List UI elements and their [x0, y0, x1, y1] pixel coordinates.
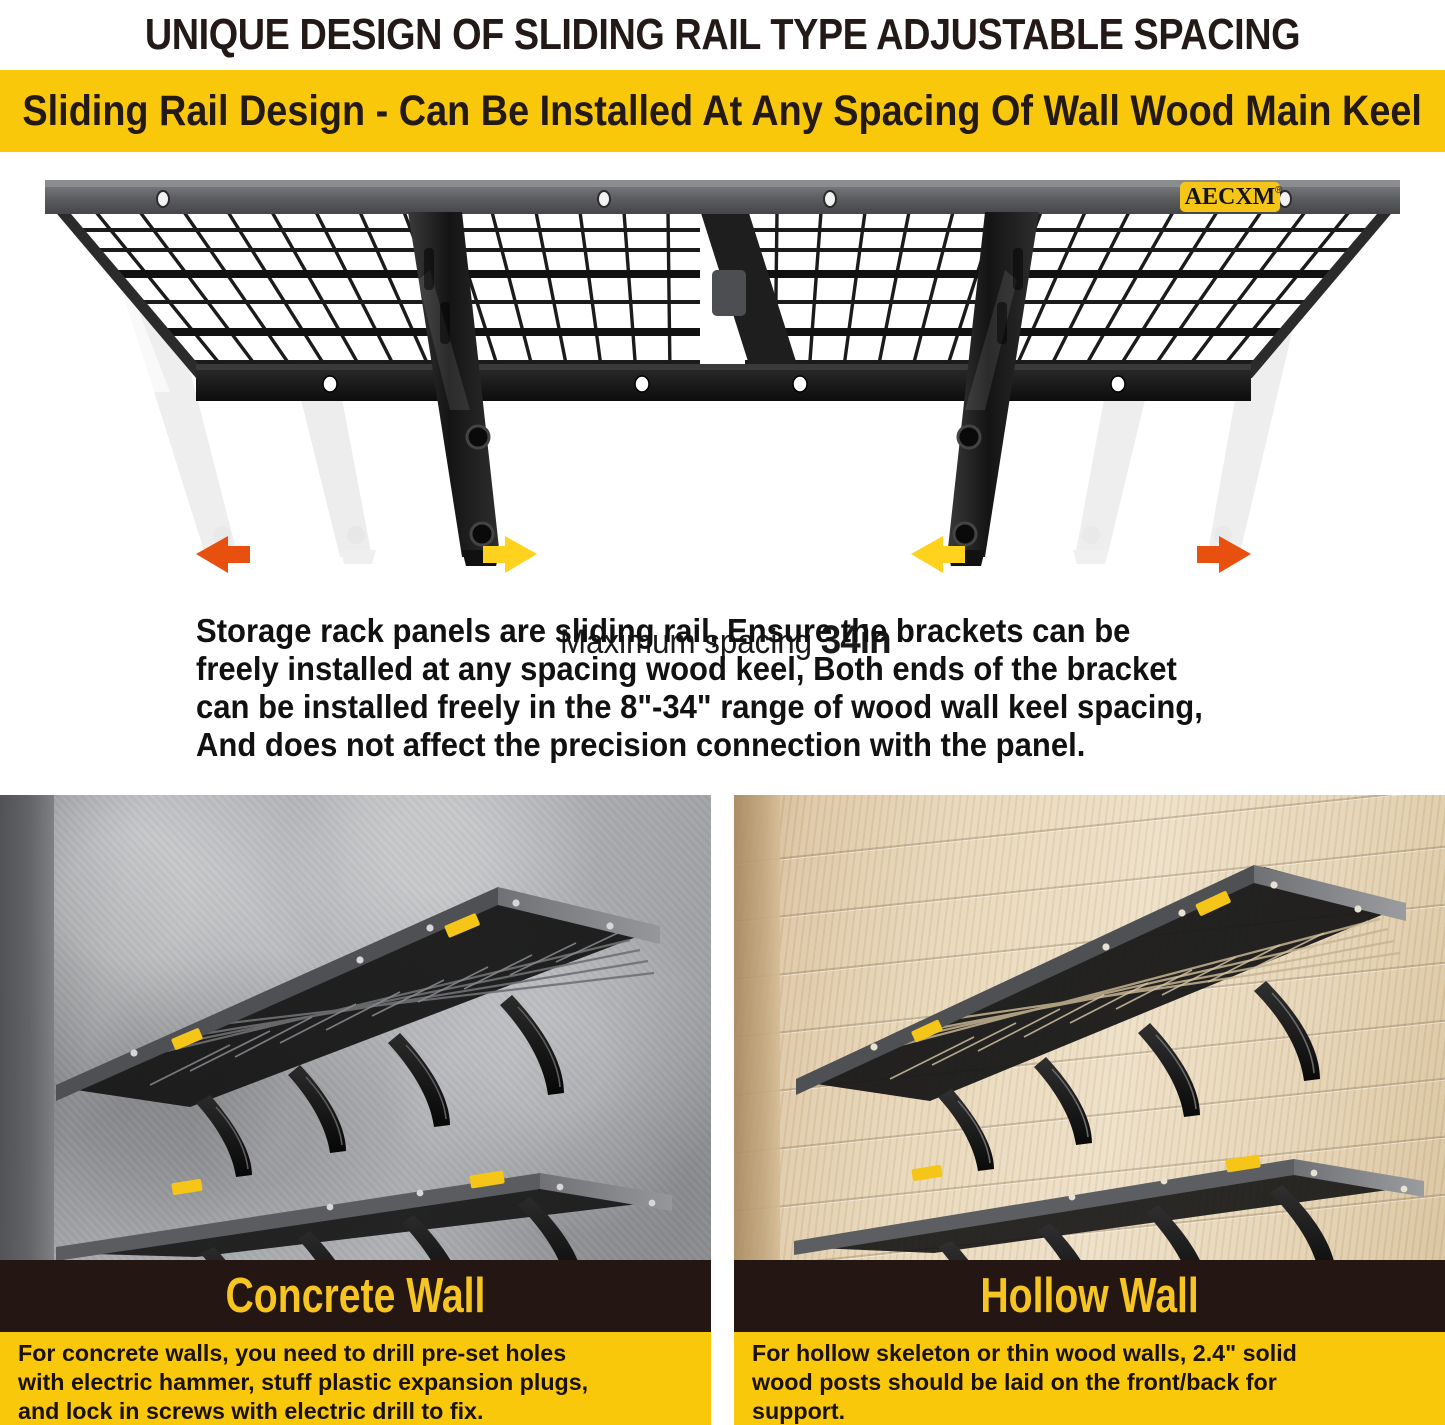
rack-lower	[56, 1170, 672, 1260]
panel-hollow-wall: Hollow Wall For hollow skeleton or thin …	[734, 795, 1445, 1425]
concrete-wall-heading-bar: Concrete Wall	[0, 1260, 711, 1332]
concrete-caption-line-2: with electric hammer, stuff plastic expa…	[18, 1368, 686, 1397]
subtitle-band: Sliding Rail Design - Can Be Installed A…	[0, 70, 1445, 152]
arrow-right-orange-outer	[1197, 536, 1251, 573]
hollow-wall-photo	[734, 795, 1445, 1260]
rack-lower	[794, 1154, 1424, 1260]
description-line-2: freely installed at any spacing wood kee…	[196, 650, 1197, 688]
description-line-1: Storage rack panels are sliding rail, En…	[196, 612, 1197, 650]
mesh-panel-right	[745, 212, 1385, 374]
hollow-wall-caption: For hollow skeleton or thin wood walls, …	[734, 1332, 1445, 1425]
concrete-wall-caption: For concrete walls, you need to drill pr…	[0, 1332, 711, 1425]
brand-badge-registered-mark: ®	[1275, 185, 1283, 196]
wall-type-panels: Concrete Wall For concrete walls, you ne…	[0, 795, 1445, 1425]
panel-concrete-wall: Concrete Wall For concrete walls, you ne…	[0, 795, 711, 1425]
description-line-4: And does not affect the precision connec…	[196, 726, 1197, 764]
front-rail	[196, 364, 1251, 401]
brand-badge-label: AECXM	[1185, 184, 1276, 210]
concrete-wall-heading: Concrete Wall	[226, 1272, 486, 1321]
brand-badge: AECXM ®	[1180, 182, 1283, 212]
hollow-caption-line-1: For hollow skeleton or thin wood walls, …	[752, 1339, 1420, 1368]
concrete-caption-line-3: and lock in screws with electric drill t…	[18, 1397, 686, 1425]
centre-clamp	[712, 270, 746, 316]
rack-upper	[796, 865, 1406, 1171]
hollow-wall-heading: Hollow Wall	[980, 1272, 1199, 1321]
description-paragraph: Storage rack panels are sliding rail, En…	[196, 612, 1197, 764]
hollow-wall-heading-bar: Hollow Wall	[734, 1260, 1445, 1332]
page-title: UNIQUE DESIGN OF SLIDING RAIL TYPE ADJUS…	[101, 0, 1344, 70]
hollow-caption-line-3: support.	[752, 1397, 1420, 1425]
rack-diagram: AECXM ®	[0, 152, 1445, 607]
concrete-wall-photo	[0, 795, 711, 1260]
rack-diagram-svg: AECXM ®	[0, 152, 1445, 607]
concrete-rack-illustration	[0, 795, 711, 1260]
description-line-3: can be installed freely in the 8"-34" ra…	[196, 688, 1197, 726]
rack-upper	[56, 887, 660, 1177]
concrete-caption-line-1: For concrete walls, you need to drill pr…	[18, 1339, 686, 1368]
hollow-rack-illustration	[734, 795, 1445, 1260]
subtitle-text: Sliding Rail Design - Can Be Installed A…	[23, 87, 1423, 136]
hollow-caption-line-2: wood posts should be laid on the front/b…	[752, 1368, 1420, 1397]
